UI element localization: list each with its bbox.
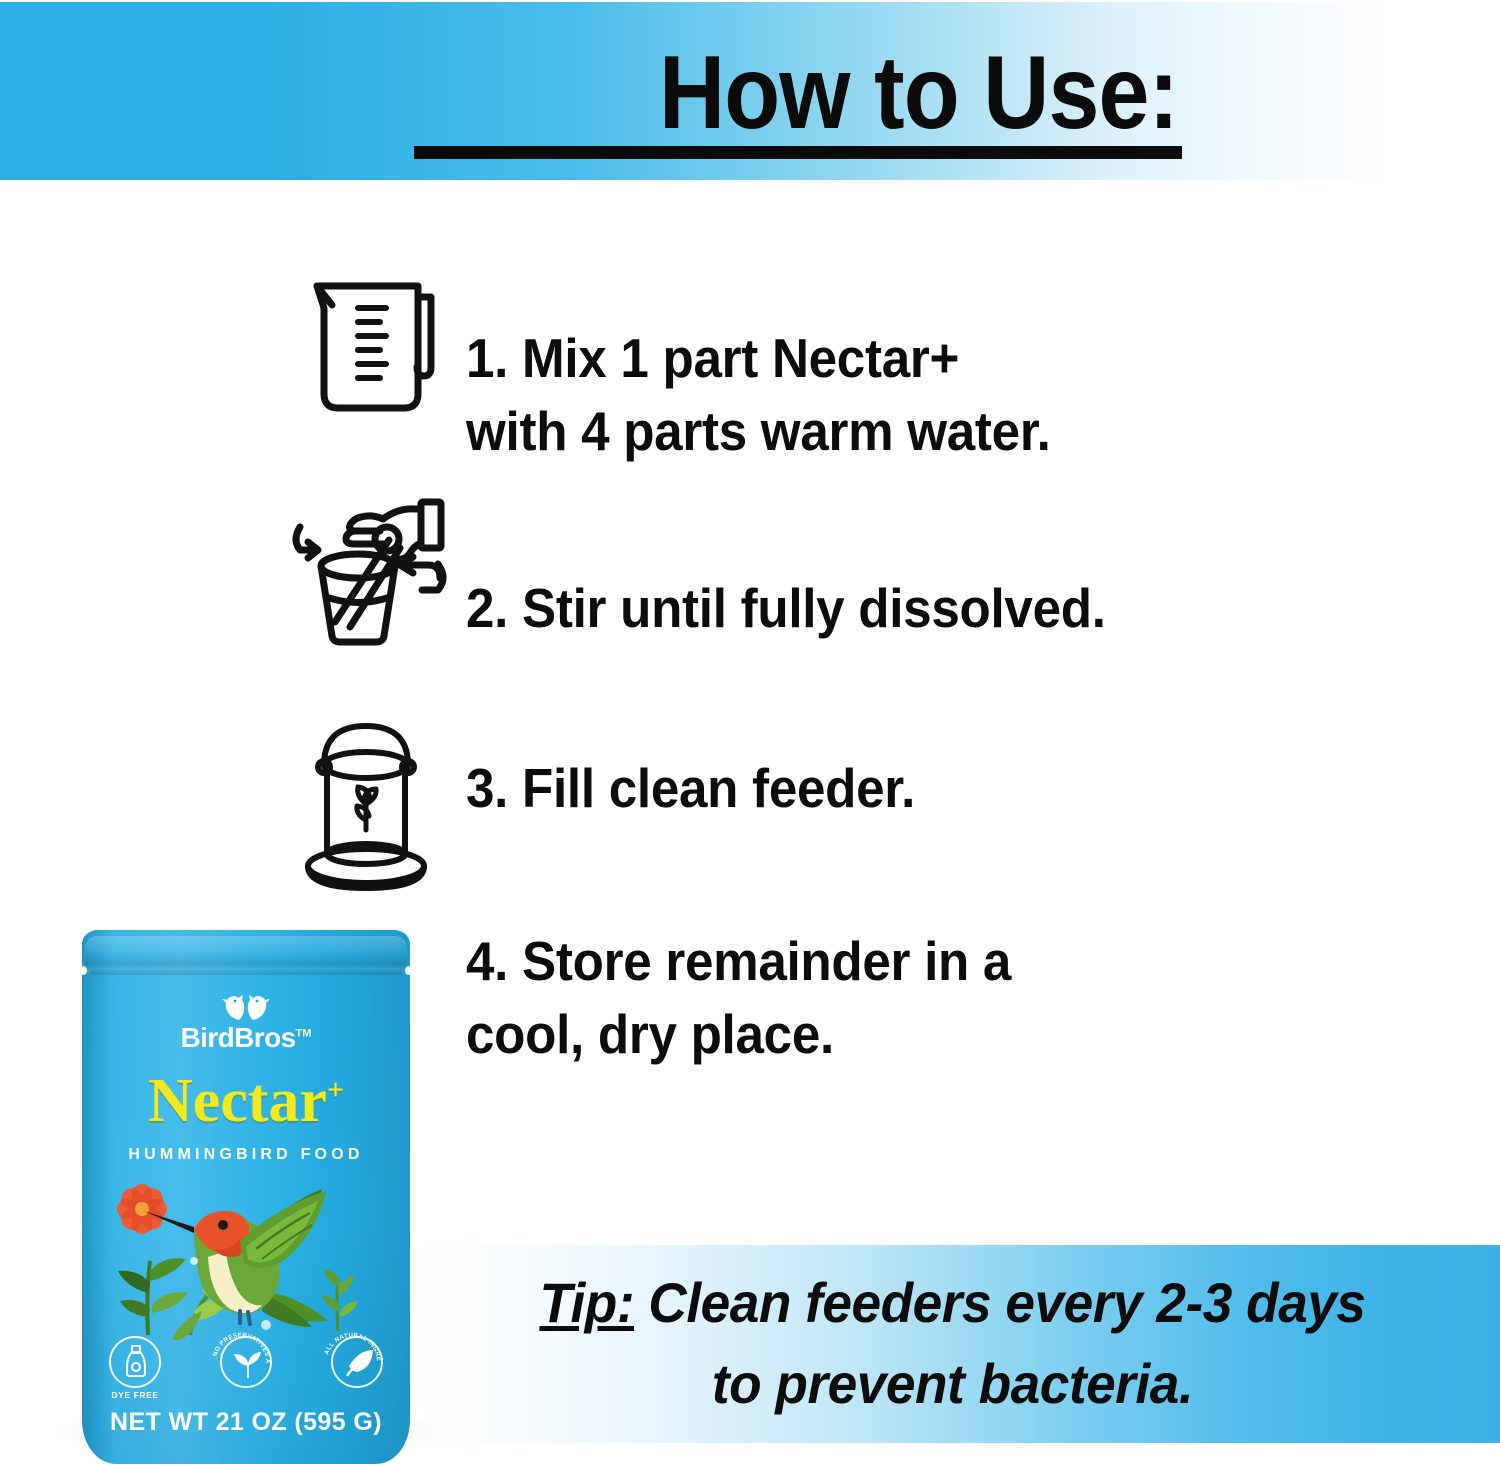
bag-subtitle: HUMMINGBIRD FOOD [82, 1146, 410, 1164]
hummingbird-artwork [90, 1175, 402, 1340]
bag-notch-right-icon [405, 966, 412, 975]
badge-dye-free-label: DYE FREE [104, 1390, 166, 1400]
bag-seal-line [90, 970, 402, 975]
step-2-text: 2. Stir until fully dissolved. [466, 572, 1284, 645]
step-3-text: 3. Fill clean feeder. [466, 752, 1284, 825]
step-4-text: 4. Store remainder in a cool, dry place. [466, 925, 1284, 1070]
bird-feeder-icon [292, 718, 457, 893]
badge-dye-free-circle [109, 1336, 161, 1388]
page-title-wrap: How to Use: [0, 40, 1180, 146]
bag-product-plus: + [327, 1073, 344, 1106]
badge-all-natural: ALL NATURAL INGREDIENTS [326, 1336, 388, 1402]
page-title-underline [414, 146, 1182, 159]
tip-line-2: to prevent bacteria. [712, 1352, 1193, 1415]
badge-no-preservatives-circle [220, 1336, 272, 1388]
badge-dye-free: DYE FREE [104, 1336, 166, 1402]
step-1-text: 1. Mix 1 part Nectar+ with 4 parts warm … [466, 322, 1284, 467]
measuring-cup-icon [300, 272, 460, 422]
bag-notch-left-icon [80, 966, 87, 975]
tip-label: Tip: [539, 1271, 634, 1334]
page-title: How to Use: [659, 40, 1180, 146]
bag-brand-tm: TM [296, 1028, 312, 1040]
bag-badges: DYE FREE NO PRESERVATIVES ADDED [104, 1336, 388, 1402]
bag-zip-seal [85, 936, 407, 972]
bag-product-name: Nectar+ [82, 1070, 410, 1132]
badge-no-preservatives: NO PRESERVATIVES ADDED [215, 1336, 277, 1402]
tip-line-1: Clean feeders every 2-3 days [648, 1271, 1365, 1334]
stirring-glass-icon [288, 486, 463, 651]
badge-all-natural-circle [331, 1336, 383, 1388]
bag-brand-text: BirdBros [181, 1022, 296, 1053]
bag-net-weight: NET WT 21 OZ (595 G) [82, 1408, 410, 1437]
birdbros-birds-logo-icon [82, 992, 410, 1022]
product-bag: BirdBrosTM Nectar+ HUMMINGBIRD FOOD [82, 930, 410, 1464]
bag-product-text: Nectar [148, 1067, 327, 1135]
bag-brand-name: BirdBrosTM [82, 1022, 410, 1054]
tip-text: Tip: Clean feeders every 2-3 days to pre… [432, 1262, 1472, 1424]
